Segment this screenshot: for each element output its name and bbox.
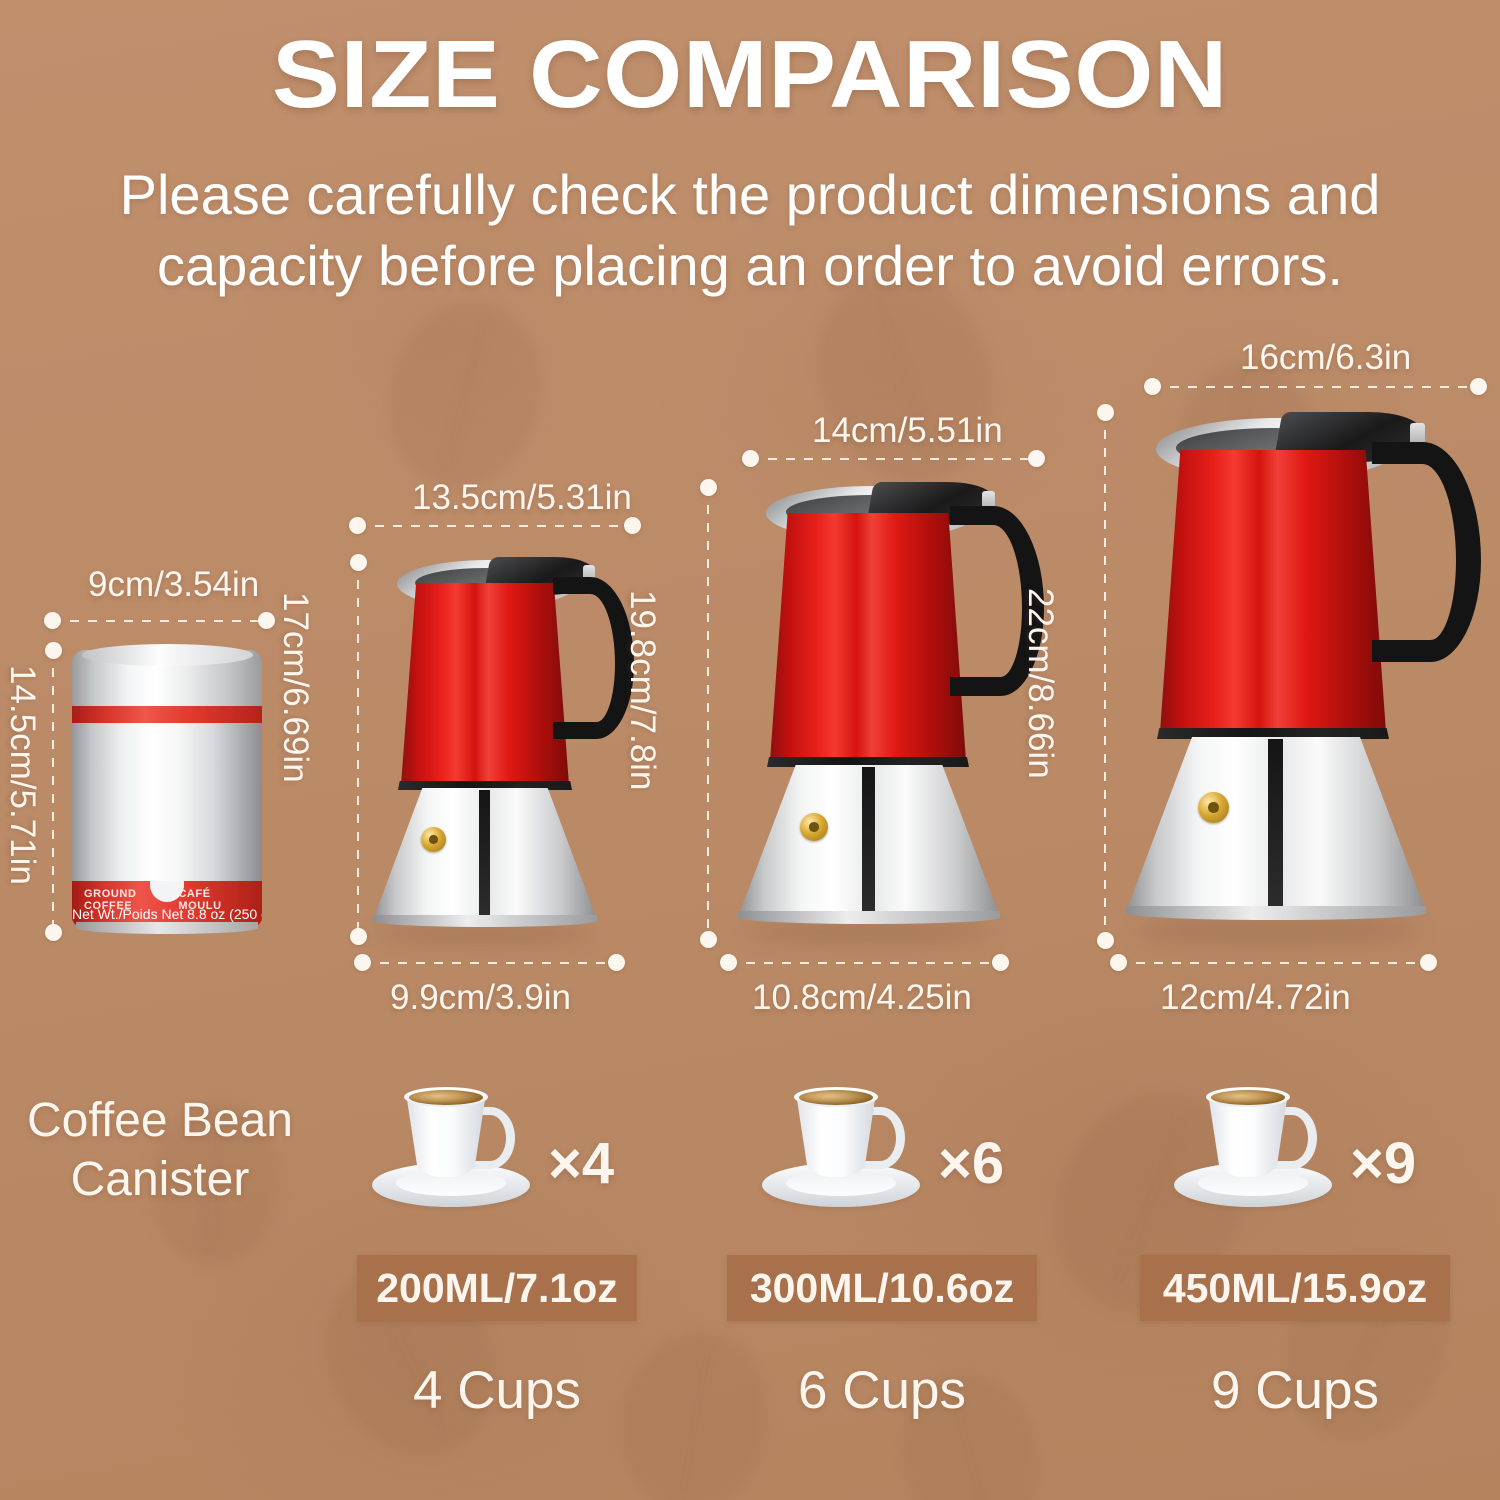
coffee-surface	[1211, 1090, 1285, 1105]
coffee-bean-canister: GROUND COFFEE CAFÉ MOULU Net Wt./Poids N…	[72, 650, 262, 932]
capacity-badge-4-cups: 200ML/7.1oz	[357, 1255, 637, 1321]
dimension-dot	[742, 450, 759, 467]
coffee-surface	[409, 1090, 483, 1105]
cup-illustration-6	[756, 1085, 936, 1210]
safety-valve-icon	[421, 827, 446, 852]
pot2-width-label: 14cm/5.51in	[812, 411, 1003, 451]
dimension-dot	[1470, 378, 1487, 395]
dimension-dot	[45, 924, 62, 941]
pot3-height-dimline	[1104, 412, 1106, 940]
pot2-base-label: 10.8cm/4.25in	[752, 978, 972, 1018]
pot3-width-dimline	[1152, 386, 1484, 388]
cup-multiplier-9: ×9	[1350, 1130, 1416, 1197]
cup-multiplier-4: ×4	[548, 1130, 614, 1197]
moka-pot-6-cup	[718, 470, 1068, 945]
pot2-height-label: 19.8cm/7.8in	[622, 590, 662, 790]
pot-foot	[1126, 906, 1426, 920]
canister-label-band: GROUND COFFEE CAFÉ MOULU Net Wt./Poids N…	[72, 881, 262, 927]
pot2-base-dimline	[728, 962, 1008, 964]
pot-upper-body	[770, 513, 966, 761]
canister-width-dimline	[52, 620, 274, 622]
canister-width-label: 9cm/3.54in	[88, 565, 259, 605]
dimension-dot	[1110, 954, 1127, 971]
page-subtitle: Please carefully check the product dimen…	[90, 160, 1410, 301]
dimension-dot	[1420, 954, 1437, 971]
pot-handle	[1372, 442, 1481, 662]
canister-caption: Coffee Bean Canister	[10, 1092, 310, 1209]
dimension-dot	[258, 612, 275, 629]
dimension-dot	[992, 954, 1009, 971]
canister-caption-line1: Coffee Bean	[10, 1092, 310, 1151]
pot1-base-label: 9.9cm/3.9in	[390, 978, 571, 1018]
dimension-dot	[700, 931, 717, 948]
cup-illustration-9	[1168, 1085, 1348, 1210]
dimension-dot	[624, 517, 641, 534]
canister-caption-line2: Canister	[10, 1151, 310, 1210]
dimension-dot	[1144, 378, 1161, 395]
dimension-dot	[44, 612, 61, 629]
size-comparison-infographic: SIZE COMPARISON Please carefully check t…	[0, 0, 1500, 1500]
pot2-width-dimline	[750, 458, 1044, 460]
capacity-badge-9-cups: 450ML/15.9oz	[1140, 1255, 1450, 1321]
canister-base	[76, 922, 258, 934]
pot3-width-label: 16cm/6.3in	[1240, 338, 1411, 378]
cups-caption-9: 9 Cups	[1140, 1360, 1450, 1421]
dimension-dot	[720, 954, 737, 971]
pot1-width-label: 13.5cm/5.31in	[412, 478, 632, 518]
canister-net-weight: Net Wt./Poids Net 8.8 oz (250 g)	[72, 906, 262, 922]
page-title: SIZE COMPARISON	[0, 26, 1500, 124]
pot2-height-dimline	[707, 487, 709, 939]
canister-lid-top	[82, 644, 253, 666]
canister-lid	[72, 650, 262, 706]
capacity-badge-6-cups: 300ML/10.6oz	[727, 1255, 1037, 1321]
dimension-dot	[45, 642, 62, 659]
dimension-dot	[349, 517, 366, 534]
safety-valve-icon	[800, 813, 828, 841]
cups-caption-6: 6 Cups	[727, 1360, 1037, 1421]
pot-base-seam	[862, 767, 875, 919]
canister-body	[72, 723, 262, 881]
cup-illustration-4	[366, 1085, 546, 1210]
pot-upper-body	[401, 583, 569, 785]
pot3-height-label: 22cm/8.66in	[1020, 588, 1060, 779]
pot3-base-label: 12cm/4.72in	[1160, 978, 1351, 1018]
moka-pot-9-cup	[1110, 400, 1500, 945]
dimension-dot	[1028, 450, 1045, 467]
pot1-width-dimline	[357, 525, 640, 527]
pot-foot	[738, 911, 1000, 924]
pot-upper-body	[1160, 450, 1386, 732]
pot-base-seam	[479, 790, 490, 922]
pot3-base-dimline	[1118, 962, 1436, 964]
pot-foot	[373, 915, 597, 927]
pot-shadow	[1136, 918, 1421, 944]
coffee-surface	[799, 1090, 873, 1105]
pot1-height-label: 17cm/6.69in	[275, 592, 315, 783]
dimension-dot	[700, 479, 717, 496]
pot1-base-dimline	[362, 962, 624, 964]
canister-red-band	[72, 706, 262, 723]
pot-base-seam	[1268, 739, 1283, 914]
background-bean-texture	[369, 285, 561, 506]
dimension-dot	[608, 954, 625, 971]
cup-multiplier-6: ×6	[938, 1130, 1004, 1197]
moka-pot-4-cup	[345, 545, 655, 945]
cups-caption-4: 4 Cups	[357, 1360, 637, 1421]
dimension-dot	[354, 954, 371, 971]
safety-valve-icon	[1198, 792, 1229, 823]
canister-height-dimline	[52, 650, 54, 932]
canister-height-label: 14.5cm/5.71in	[2, 665, 42, 885]
